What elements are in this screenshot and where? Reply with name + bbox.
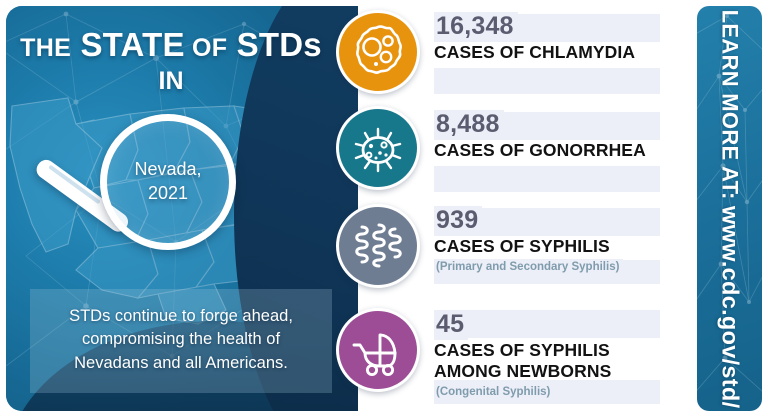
- chlamydia-cell-icon: [336, 10, 420, 94]
- baby-stroller-icon: [336, 308, 420, 392]
- quote-line-1: STDs continue to forge ahead,: [40, 305, 322, 328]
- location-name: Nevada,: [134, 158, 201, 182]
- infographic-root: THE STATE OF STDs IN Nevada, 2021 STDs c…: [0, 0, 768, 417]
- left-panel: THE STATE OF STDs IN Nevada, 2021 STDs c…: [6, 6, 358, 411]
- stat-label: CASES OF GONORRHEA: [434, 141, 682, 161]
- stat-row: 939 CASES OF SYPHILIS (Primary and Secon…: [330, 198, 690, 302]
- title-word-of: OF: [192, 34, 227, 62]
- title-word-the: THE: [20, 34, 71, 62]
- stat-number: 45: [434, 310, 468, 340]
- syphilis-spirochete-icon: [336, 204, 420, 288]
- stat-subtitle: (Congenital Syphilis): [434, 384, 554, 402]
- learn-more-label: LEARN MORE AT:: [717, 9, 742, 199]
- gonorrhea-bacterium-icon: [336, 106, 420, 190]
- stat-number: 939: [434, 206, 482, 236]
- stat-subtitle: (Primary and Secondary Syphilis): [434, 259, 623, 277]
- stat-label: CASES OF CHLAMYDIA: [434, 43, 682, 63]
- magnifying-glass-icon: Nevada, 2021: [100, 114, 236, 250]
- learn-more-sidebar[interactable]: LEARN MORE AT: www.cdc.gov/std/: [697, 6, 762, 411]
- title-word-in: IN: [6, 69, 336, 95]
- summary-quote: STDs continue to forge ahead, compromisi…: [30, 289, 332, 393]
- stat-number: 16,348: [434, 12, 518, 42]
- stat-text: 16,348 CASES OF CHLAMYDIA: [434, 12, 682, 63]
- statistics-list: 16,348 CASES OF CHLAMYDIA: [330, 0, 690, 417]
- title-word-stds: STDs: [237, 26, 322, 63]
- stat-row: 45 CASES OF SYPHILIS AMONG NEWBORNS (Con…: [330, 298, 690, 402]
- quote-line-3: Nevadans and all Americans.: [40, 352, 322, 375]
- location-year: 2021: [148, 182, 188, 206]
- cdc-url-link[interactable]: www.cdc.gov/std/: [717, 205, 743, 407]
- stat-row: 8,488 CASES OF GONORRHEA: [330, 100, 690, 204]
- quote-line-2: compromising the health of: [40, 328, 322, 351]
- stat-filler-band: [434, 166, 660, 192]
- learn-more-text: LEARN MORE AT: www.cdc.gov/std/: [716, 9, 743, 408]
- stat-label: CASES OF SYPHILIS: [434, 237, 682, 257]
- stat-number: 8,488: [434, 110, 504, 140]
- stat-text: 45 CASES OF SYPHILIS AMONG NEWBORNS (Con…: [434, 310, 682, 402]
- stat-text: 939 CASES OF SYPHILIS (Primary and Secon…: [434, 206, 682, 277]
- magnifier-location-text: Nevada, 2021: [100, 114, 236, 250]
- title-word-state: STATE: [80, 26, 184, 63]
- stat-filler-band: [434, 68, 660, 94]
- stat-label-line-1: CASES OF SYPHILIS: [434, 341, 682, 361]
- page-title: THE STATE OF STDs IN: [6, 28, 336, 94]
- stat-label-line-2: AMONG NEWBORNS: [434, 362, 682, 382]
- stat-text: 8,488 CASES OF GONORRHEA: [434, 110, 682, 161]
- stat-row: 16,348 CASES OF CHLAMYDIA: [330, 4, 690, 108]
